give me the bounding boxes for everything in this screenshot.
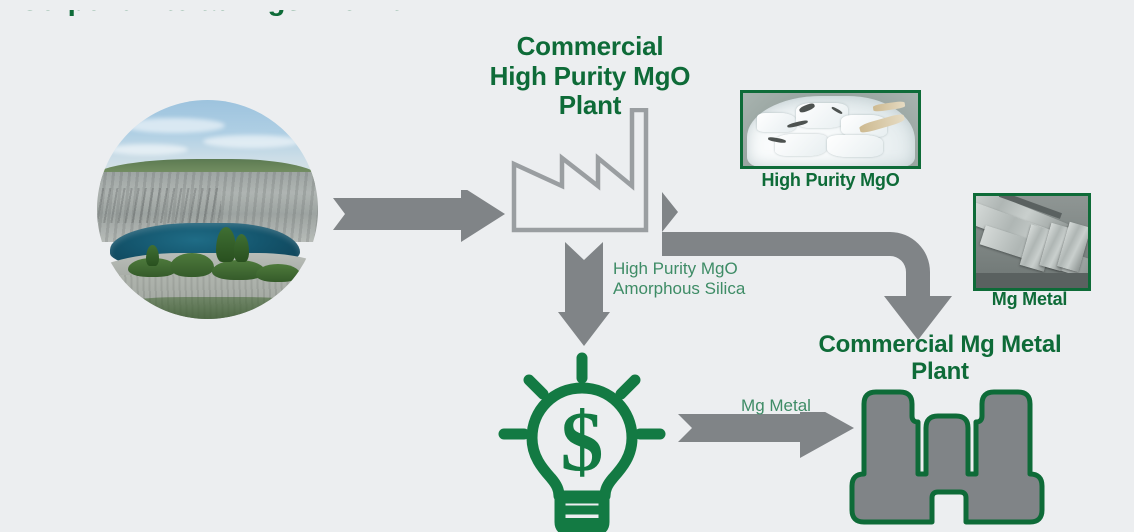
mg-plant-title: Commercial Mg Metal Plant: [795, 331, 1085, 386]
diagram-canvas: Serpentinite tailings 110M tonnes Commer…: [0, 0, 1134, 532]
high-purity-mgo-caption: High Purity MgO: [718, 170, 943, 191]
powder-facet: [775, 134, 828, 156]
factory-outline: [514, 110, 646, 230]
arrow-body: [558, 242, 610, 346]
arrow-tailings-to-mgo-plant: [333, 190, 511, 246]
ingot-shadow: [976, 273, 1088, 288]
factory-output-labels: High Purity MgO Amorphous Silica: [613, 259, 823, 300]
powder-facet: [827, 135, 883, 157]
plant-outline: [852, 392, 1042, 522]
mg-metal-photo: [973, 193, 1091, 291]
arc-headline-text: Serpentinite tailings 110M tonnes: [20, 10, 400, 17]
mg-metal-caption: Mg Metal: [972, 289, 1087, 310]
arrow-body: [678, 412, 854, 458]
industrial-plant-icon: [848, 382, 1046, 532]
arrow-label-mg-metal: Mg Metal: [716, 396, 836, 416]
arrow-mg-plant-to-value: [676, 412, 856, 460]
arrow-body: [333, 190, 505, 242]
lightbulb-dollar-icon: $: [498, 352, 668, 532]
arrow-mgo-plant-to-value: [558, 238, 610, 350]
high-purity-mgo-photo: [740, 90, 921, 169]
dollar-sign-icon: $: [561, 393, 604, 489]
factory-icon: [500, 108, 660, 240]
arc-headline: Serpentinite tailings 110M tonnes: [20, 10, 400, 340]
